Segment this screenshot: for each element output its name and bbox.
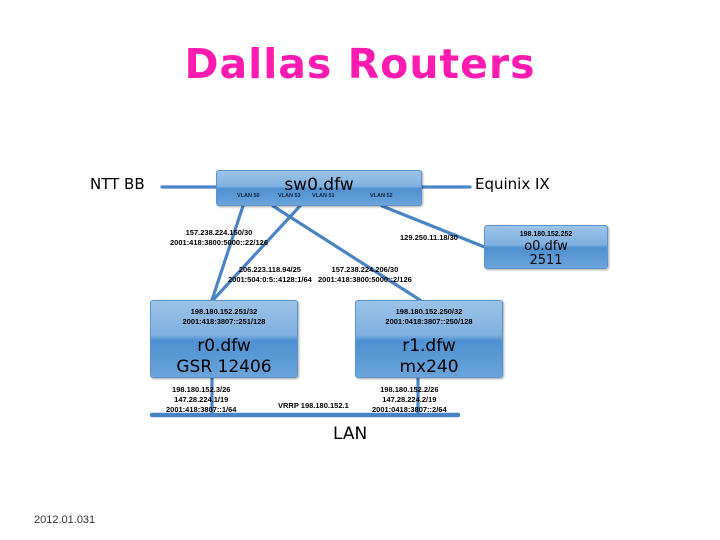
annotation-vrrp: VRRP 198.180.152.1	[278, 401, 349, 411]
annotation-ntt-bb-ipv4: 157.238.224.150/30	[170, 228, 268, 238]
node-router-r0[interactable]: 198.180.152.251/32 2001:418:3807::251/12…	[150, 300, 298, 378]
lan-right-ipv6: 2001:0418:3807::2/64	[372, 405, 447, 415]
r1-loopback-block: 198.180.152.250/32 2001:0418:3807::250/1…	[356, 301, 502, 327]
node-switch-sw0[interactable]: sw0.dfw VLAN 50 VLAN 53 VLAN 51 VLAN 52	[216, 170, 422, 206]
o0-management-ip: 198.180.152.252	[485, 226, 607, 239]
r1-model: mx240	[356, 357, 502, 377]
annotation-ntt-bb-link: 157.238.224.150/30 2001:418:3800:5000::2…	[170, 228, 268, 248]
lan-right-ipv4-b: 147.28.224.2/19	[372, 395, 447, 405]
switch-port-vlan-50: VLAN 50	[237, 193, 260, 199]
label-lan: LAN	[333, 424, 367, 444]
switch-port-vlan-52: VLAN 52	[370, 193, 393, 199]
lan-left-ipv4-a: 198.180.152.3/26	[166, 385, 236, 395]
switch-port-row: VLAN 50 VLAN 53 VLAN 51 VLAN 52	[217, 193, 423, 205]
node-router-r1[interactable]: 198.180.152.250/32 2001:0418:3807::250/1…	[355, 300, 503, 378]
label-ntt-backbone: NTT BB	[90, 175, 145, 193]
annotation-equinix-ipv4: 206.223.118.94/25	[228, 265, 312, 275]
annotation-oob-ipv4: 129.250.11.18/30	[400, 233, 458, 243]
r0-model: GSR 12406	[151, 357, 297, 377]
r1-loopback-ipv4: 198.180.152.250/32	[356, 307, 502, 317]
annotation-ntt-bb2-ipv4: 157.238.224.206/30	[318, 265, 412, 275]
r1-loopback-ipv6: 2001:0418:3807::250/128	[356, 317, 502, 327]
r0-loopback-block: 198.180.152.251/32 2001:418:3807::251/12…	[151, 301, 297, 327]
annotation-ntt-bb2-link: 157.238.224.206/30 2001:418:3800:5000::2…	[318, 265, 412, 285]
r0-hostname: r0.dfw	[151, 327, 297, 357]
r0-loopback-ipv6: 2001:418:3807::251/128	[151, 317, 297, 327]
annotation-ntt-bb-ipv6: 2001:418:3800:5000::22/126	[170, 238, 268, 248]
r1-hostname: r1.dfw	[356, 327, 502, 357]
annotation-equinix-ix-link: 206.223.118.94/25 2001:504:0:5::4128:1/6…	[228, 265, 312, 285]
o0-model: 2511	[485, 254, 607, 268]
switch-port-vlan-51: VLAN 51	[312, 193, 335, 199]
node-console-server-o0[interactable]: 198.180.152.252 o0.dfw 2511	[484, 225, 608, 269]
annotation-lan-left: 198.180.152.3/26 147.28.224.1/19 2001:41…	[166, 385, 236, 415]
switch-port-vlan-53: VLAN 53	[278, 193, 301, 199]
label-equinix-ix: Equinix IX	[475, 175, 550, 193]
annotation-equinix-ipv6: 2001:504:0:5::4128:1/64	[228, 275, 312, 285]
link-vlan53-to-r1	[273, 206, 420, 300]
slide-canvas: Dallas Routers NTT BB Equinix IX LAN sw0…	[0, 0, 720, 540]
o0-hostname: o0.dfw	[485, 239, 607, 254]
annotation-oob-link: 129.250.11.18/30	[400, 233, 458, 243]
annotation-ntt-bb2-ipv6: 2001:418:3800:5000::2/126	[318, 275, 412, 285]
lan-left-ipv4-b: 147.28.224.1/19	[166, 395, 236, 405]
annotation-lan-right: 198.180.152.2/26 147.28.224.2/19 2001:04…	[372, 385, 447, 415]
slide-footer-date: 2012.01.031	[34, 514, 95, 526]
lan-left-ipv6: 2001:418:3807::1/64	[166, 405, 236, 415]
r0-loopback-ipv4: 198.180.152.251/32	[151, 307, 297, 317]
lan-right-ipv4-a: 198.180.152.2/26	[372, 385, 447, 395]
